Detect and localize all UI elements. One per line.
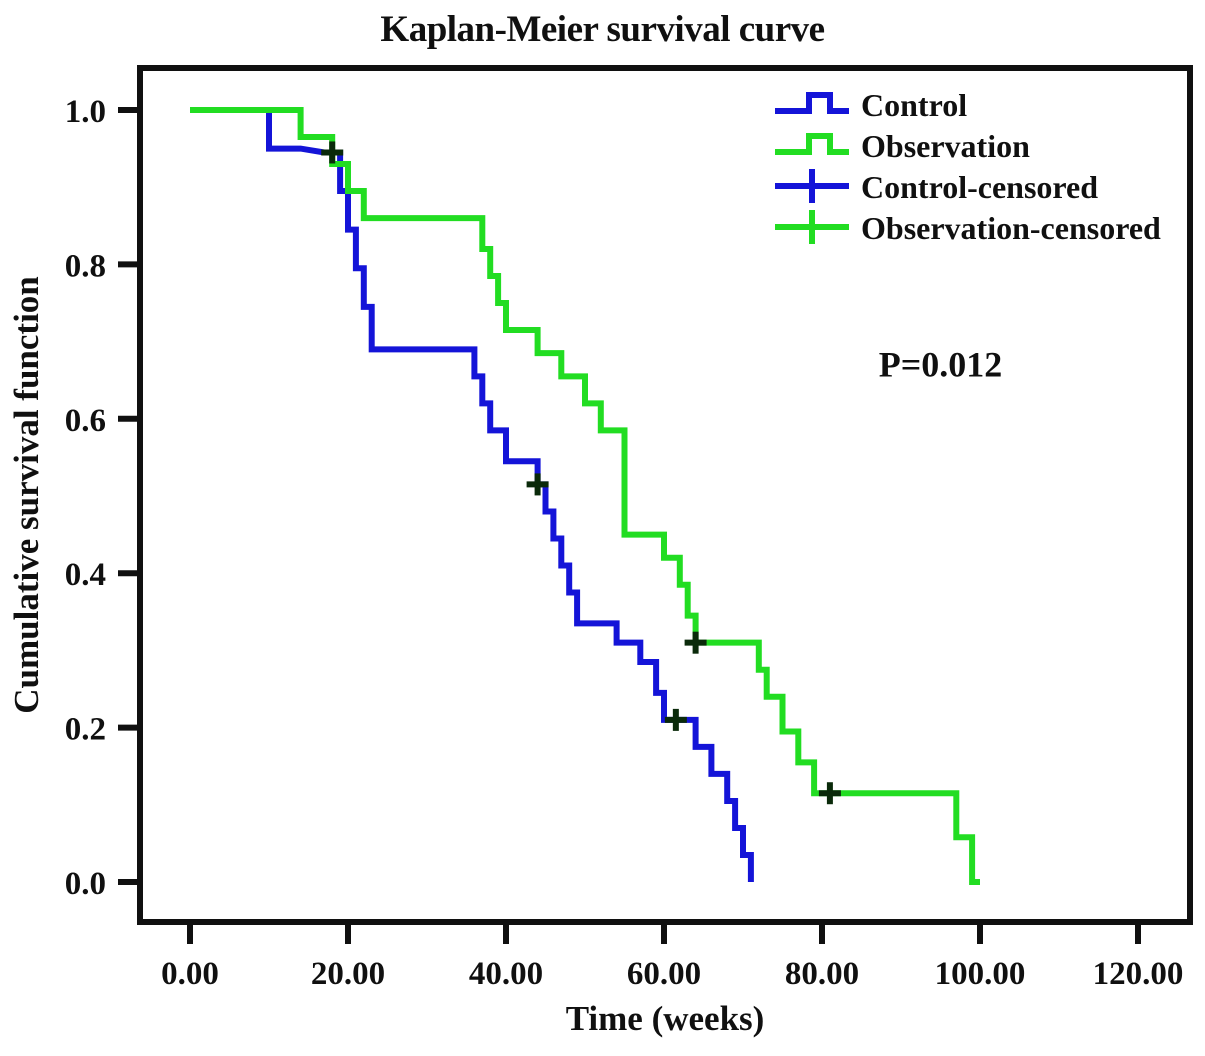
legend-label: Observation <box>861 128 1030 164</box>
y-tick-label: 0.8 <box>65 248 106 284</box>
kaplan-meier-chart: 0.0020.0040.0060.0080.00100.00120.00 0.0… <box>0 0 1205 1056</box>
x-tick-label: 100.00 <box>935 956 1026 992</box>
y-axis-title: Cumulative survival function <box>7 276 46 714</box>
x-tick-label: 60.00 <box>627 956 701 992</box>
y-tick-label: 1.0 <box>65 94 106 130</box>
legend-label: Control <box>861 87 967 123</box>
p-value-annotation: P=0.012 <box>879 344 1003 384</box>
x-tick-label: 40.00 <box>469 956 543 992</box>
x-tick-label: 120.00 <box>1093 956 1184 992</box>
y-axis-ticks <box>118 110 140 882</box>
x-tick-label: 20.00 <box>311 956 385 992</box>
x-axis-ticks <box>190 922 1138 944</box>
y-axis-tick-labels: 0.00.20.40.60.81.0 <box>65 94 106 902</box>
chart-page: Kaplan-Meier survival curve 0.0020.0040.… <box>0 0 1205 1056</box>
x-axis-tick-labels: 0.0020.0040.0060.0080.00100.00120.00 <box>161 956 1183 992</box>
legend-label: Observation-censored <box>861 210 1161 246</box>
legend-label: Control-censored <box>861 169 1098 205</box>
y-tick-label: 0.0 <box>65 866 106 902</box>
x-axis-title: Time (weeks) <box>566 999 765 1038</box>
x-tick-label: 80.00 <box>785 956 859 992</box>
x-tick-label: 0.00 <box>161 956 219 992</box>
y-tick-label: 0.6 <box>65 403 106 439</box>
y-tick-label: 0.4 <box>65 557 106 593</box>
y-tick-label: 0.2 <box>65 712 106 748</box>
